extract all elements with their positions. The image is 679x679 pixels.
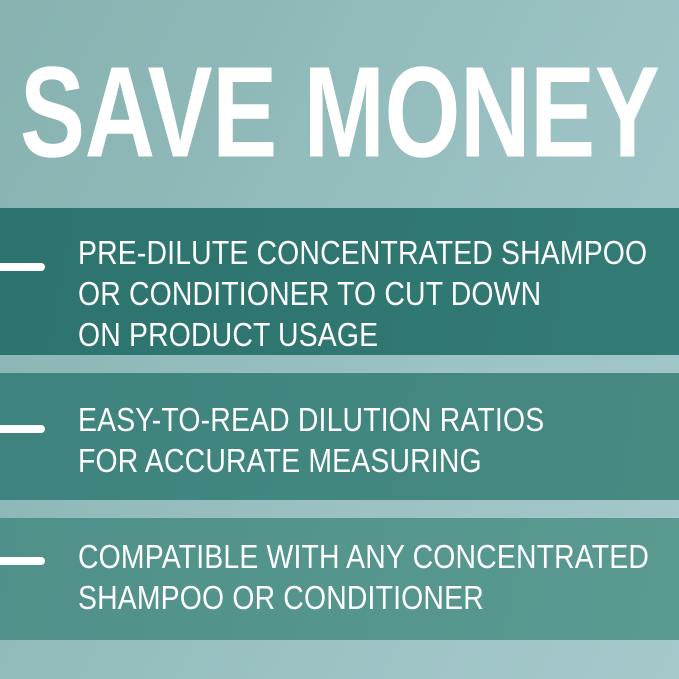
feature-band-2: EASY-TO-READ DILUTION RATIOS FOR ACCURAT…	[0, 373, 679, 500]
feature-band-3: COMPATIBLE WITH ANY CONCENTRATED SHAMPOO…	[0, 518, 679, 640]
page-title: SAVE MONEY	[20, 53, 660, 172]
feature-2-line-2: FOR ACCURATE MEASURING	[78, 440, 579, 481]
dash-marker-icon	[0, 263, 45, 271]
dash-marker-icon	[0, 425, 45, 433]
feature-1-line-1: PRE-DILUTE CONCENTRATED SHAMPOO	[78, 232, 579, 273]
product-feature-poster: SAVE MONEY PRE-DILUTE CONCENTRATED SHAMP…	[0, 0, 679, 679]
feature-2-text: EASY-TO-READ DILUTION RATIOS FOR ACCURAT…	[78, 399, 579, 481]
feature-3-line-1: COMPATIBLE WITH ANY CONCENTRATED	[78, 536, 579, 577]
feature-1-text: PRE-DILUTE CONCENTRATED SHAMPOO OR CONDI…	[78, 232, 579, 355]
feature-3-line-2: SHAMPOO OR CONDITIONER	[78, 577, 579, 618]
feature-1-line-3: ON PRODUCT USAGE	[78, 314, 579, 355]
feature-3-text: COMPATIBLE WITH ANY CONCENTRATED SHAMPOO…	[78, 536, 579, 618]
feature-band-1: PRE-DILUTE CONCENTRATED SHAMPOO OR CONDI…	[0, 208, 679, 355]
headline-container: SAVE MONEY	[0, 42, 679, 182]
feature-1-line-2: OR CONDITIONER TO CUT DOWN	[78, 273, 579, 314]
feature-2-line-1: EASY-TO-READ DILUTION RATIOS	[78, 399, 579, 440]
dash-marker-icon	[0, 557, 45, 565]
